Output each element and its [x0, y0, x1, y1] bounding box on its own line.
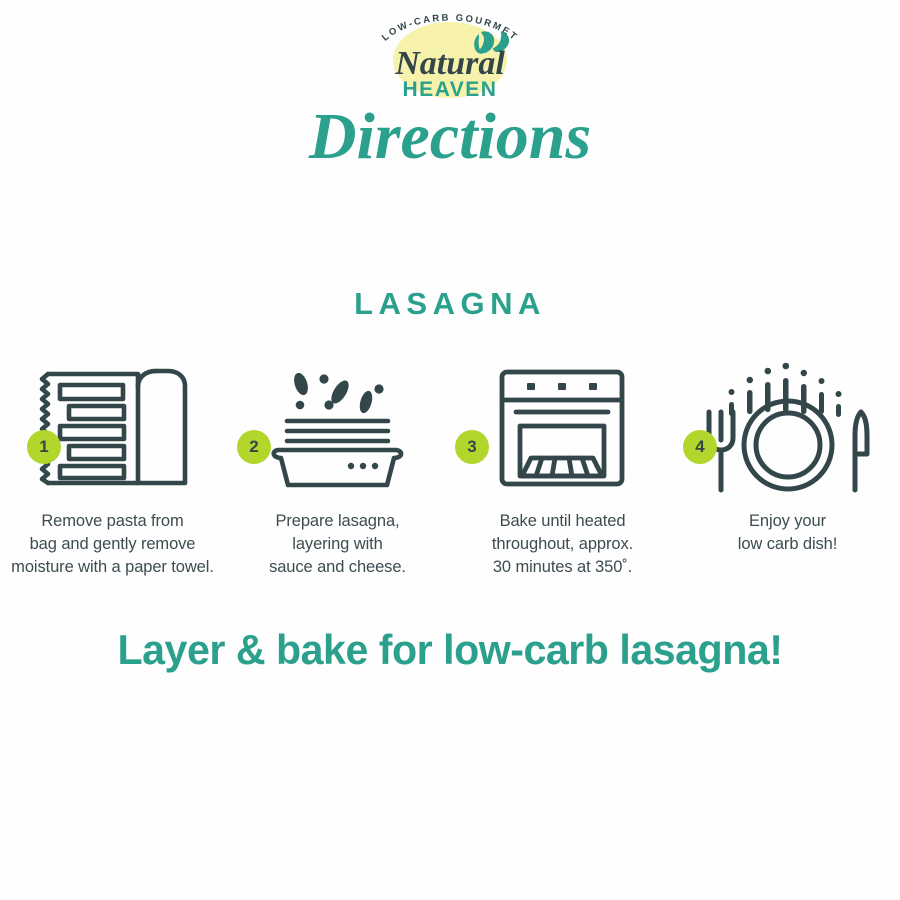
step-2-caption-line-1: Prepare lasagna, [220, 510, 455, 533]
logo-script-name: Natural [394, 45, 505, 82]
step-3-caption-line-2: throughout, approx. [445, 533, 680, 556]
oven-rack [522, 458, 602, 476]
step-2-icon-wrap: 2 [225, 352, 450, 504]
step-3-caption-line-1: Bake until heated [445, 510, 680, 533]
step-3: 3 [450, 352, 675, 602]
page-title: Directions [0, 98, 900, 178]
step-4-icon-wrap: 4 [675, 352, 900, 504]
step-4-caption-line-1: Enjoy your [670, 510, 900, 533]
steps-row: 1 [0, 352, 900, 602]
step-2-caption-line-2: layering with [220, 533, 455, 556]
recipe-title: LASAGNA [0, 286, 900, 322]
oven-knobs [527, 383, 597, 390]
steam-marks [728, 363, 841, 417]
step-4-badge: 4 [683, 430, 717, 464]
step-3-caption: Bake until heated throughout, approx. 30… [445, 510, 680, 578]
step-4-caption-line-2: low carb dish! [670, 533, 900, 556]
step-2-caption: Prepare lasagna, layering with sauce and… [220, 510, 455, 578]
oven-icon [498, 368, 628, 488]
step-2-badge: 2 [237, 430, 271, 464]
step-3-caption-line-3: 30 minutes at 350˚. [445, 556, 680, 579]
step-2: 2 [225, 352, 450, 602]
plate-fork-knife-icon [703, 362, 873, 494]
footer-tagline: Layer & bake for low-carb lasagna! [9, 626, 891, 674]
step-2-caption-line-3: sauce and cheese. [220, 556, 455, 579]
page-title-text: Directions [308, 100, 591, 173]
dish-dots [348, 462, 378, 468]
step-1: 1 [0, 352, 225, 602]
step-1-caption-line-1: Remove pasta from [0, 510, 230, 533]
step-1-icon-wrap: 1 [0, 352, 225, 504]
step-1-caption-line-2: bag and gently remove [0, 533, 230, 556]
pasta-bag-icon [38, 366, 188, 491]
step-1-caption-line-3: moisture with a paper towel. [0, 556, 230, 579]
step-3-icon-wrap: 3 [450, 352, 675, 504]
directions-infographic: LOW-CARB GOURMET Natural HEAVEN Directio… [0, 0, 900, 900]
herb-bits [292, 371, 384, 414]
step-3-badge: 3 [455, 430, 489, 464]
baking-dish-layers-icon [265, 366, 410, 491]
step-4: 4 [675, 352, 900, 602]
step-4-caption: Enjoy your low carb dish! [670, 510, 900, 556]
brand-logo: LOW-CARB GOURMET Natural HEAVEN [355, 8, 545, 102]
step-1-badge: 1 [27, 430, 61, 464]
step-1-caption: Remove pasta from bag and gently remove … [0, 510, 230, 578]
